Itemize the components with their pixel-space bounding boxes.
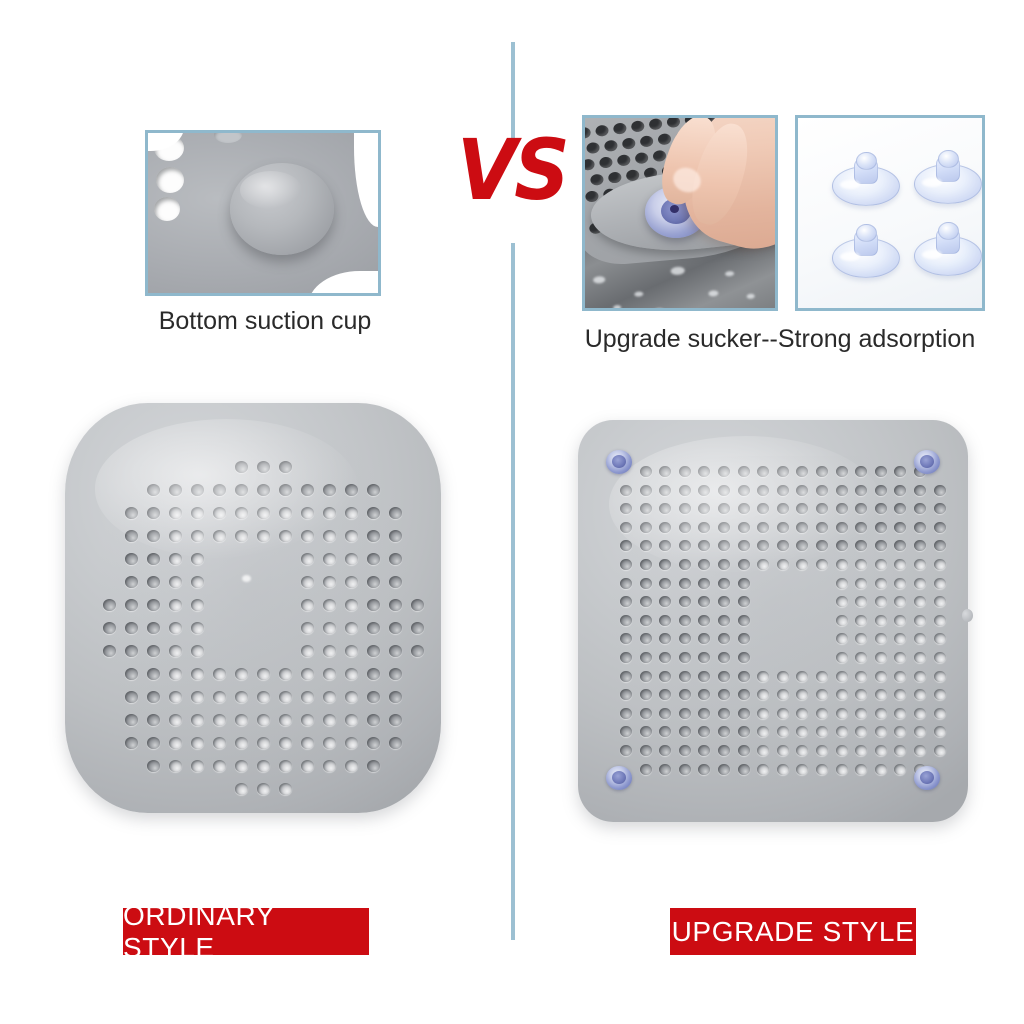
drain-hole — [698, 708, 710, 719]
drain-hole — [620, 578, 632, 589]
drain-hole — [367, 507, 380, 519]
drain-hole — [103, 622, 116, 634]
drain-hole — [914, 689, 926, 700]
drain-hole — [698, 671, 710, 682]
floor-speckle — [725, 271, 734, 277]
drain-hole — [698, 633, 710, 644]
drain-hole — [257, 668, 270, 680]
drain-hole — [777, 764, 789, 775]
drain-hole — [718, 764, 730, 775]
drain-hole — [934, 689, 946, 700]
drain-hole — [345, 599, 358, 611]
drain-hole — [934, 485, 946, 496]
bottom-suction-cup-image — [148, 133, 378, 293]
drain-hole — [659, 726, 671, 737]
drain-hole — [640, 671, 652, 682]
drain-hole — [718, 726, 730, 737]
drain-hole — [659, 745, 671, 756]
upgrade-drain-cover-product — [578, 420, 968, 822]
drain-hole — [213, 737, 226, 749]
drain-hole — [620, 652, 632, 663]
drain-hole — [389, 668, 402, 680]
drain-hole — [875, 578, 887, 589]
drain-hole — [125, 645, 138, 657]
drain-hole — [855, 745, 867, 756]
drain-hole — [914, 633, 926, 644]
drain-hole — [620, 596, 632, 607]
drain-hole — [620, 615, 632, 626]
drain-hole — [914, 522, 926, 533]
drain-hole — [757, 726, 769, 737]
mat-hole — [613, 122, 627, 135]
drain-hole — [323, 622, 336, 634]
drain-hole — [698, 689, 710, 700]
drain-hole — [934, 503, 946, 514]
drain-hole — [914, 503, 926, 514]
drain-hole — [103, 645, 116, 657]
drain-hole — [169, 622, 182, 634]
drain-hole — [934, 652, 946, 663]
four-suckers-image — [798, 118, 982, 308]
drain-hole — [367, 576, 380, 588]
drain-hole — [698, 578, 710, 589]
drain-hole — [855, 671, 867, 682]
drain-hole — [367, 691, 380, 703]
drain-hole — [836, 671, 848, 682]
drain-hole — [718, 615, 730, 626]
drain-hole — [191, 576, 204, 588]
drain-hole — [659, 689, 671, 700]
mat-hole — [666, 118, 680, 128]
drain-hole — [855, 615, 867, 626]
floor-speckle — [747, 294, 755, 300]
drain-hole — [257, 760, 270, 772]
drain-hole — [679, 596, 691, 607]
drain-hole — [894, 671, 906, 682]
drain-hole — [154, 197, 180, 221]
drain-hole — [718, 671, 730, 682]
drain-hole — [235, 760, 248, 772]
drain-hole — [640, 578, 652, 589]
drain-hole — [389, 714, 402, 726]
drain-hole — [411, 599, 424, 611]
drain-hole — [934, 745, 946, 756]
drain-hole — [640, 745, 652, 756]
drain-hole — [301, 737, 314, 749]
drain-hole — [894, 485, 906, 496]
drain-hole — [191, 737, 204, 749]
drain-hole — [757, 689, 769, 700]
drain-hole — [323, 714, 336, 726]
drain-hole — [894, 578, 906, 589]
drain-hole — [738, 671, 750, 682]
mat-hole — [622, 137, 636, 150]
drain-hole — [147, 553, 160, 565]
drain-hole — [301, 576, 314, 588]
drain-hole — [279, 737, 292, 749]
drain-hole — [125, 576, 138, 588]
drain-hole — [411, 622, 424, 634]
drain-hole — [169, 553, 182, 565]
mat-hole — [608, 171, 622, 184]
drain-hole — [389, 530, 402, 542]
drain-hole — [345, 530, 358, 542]
corner-sucker-core — [920, 455, 934, 468]
drain-hole — [213, 714, 226, 726]
drain-hole — [875, 596, 887, 607]
drain-hole — [718, 652, 730, 663]
drain-hole — [698, 726, 710, 737]
drain-hole — [345, 553, 358, 565]
drain-hole — [679, 745, 691, 756]
drain-hole — [914, 596, 926, 607]
drain-hole — [875, 633, 887, 644]
drain-hole — [836, 652, 848, 663]
drain-hole — [875, 559, 887, 570]
corner-sucker — [914, 450, 940, 474]
corner-sucker-core — [612, 771, 626, 784]
drain-hole — [894, 745, 906, 756]
drain-hole — [698, 764, 710, 775]
drain-hole — [257, 691, 270, 703]
drain-hole — [757, 671, 769, 682]
drain-hole — [620, 708, 632, 719]
drain-hole — [389, 507, 402, 519]
mat-hole — [648, 118, 662, 130]
suction-cup — [832, 224, 900, 278]
drain-hole — [914, 485, 926, 496]
drain-hole — [855, 726, 867, 737]
drain-hole — [679, 633, 691, 644]
drain-hole — [103, 599, 116, 611]
drain-hole — [679, 652, 691, 663]
drain-hole — [875, 764, 887, 775]
drain-hole — [855, 652, 867, 663]
suction-cup-knob — [938, 150, 959, 168]
bottom-suction-cup-thumbnail — [145, 130, 381, 296]
drain-hole — [213, 668, 226, 680]
mat-hole — [640, 135, 654, 148]
drain-hole — [620, 540, 632, 551]
drain-hole — [345, 576, 358, 588]
drain-hole — [235, 714, 248, 726]
drain-hole — [620, 671, 632, 682]
drain-hole — [323, 599, 336, 611]
drain-hole — [875, 708, 887, 719]
drain-hole — [894, 633, 906, 644]
drain-hole — [279, 783, 292, 795]
drain-hole — [620, 726, 632, 737]
drain-hole — [914, 652, 926, 663]
drain-hole — [894, 652, 906, 663]
drain-hole — [367, 668, 380, 680]
drain-hole — [147, 576, 160, 588]
drain-hole — [640, 708, 652, 719]
ordinary-style-banner: ORDINARY STYLE — [123, 908, 369, 955]
drain-hole — [816, 689, 828, 700]
drain-hole — [718, 708, 730, 719]
drain-hole — [147, 691, 160, 703]
drain-hole — [836, 764, 848, 775]
corner-sucker — [606, 766, 632, 790]
drain-hole — [191, 668, 204, 680]
suction-cup-knob — [856, 224, 877, 242]
drain-hole — [389, 737, 402, 749]
drain-hole — [894, 726, 906, 737]
upgrade-style-banner: UPGRADE STYLE — [670, 908, 916, 955]
drain-hole — [796, 671, 808, 682]
drain-hole — [679, 671, 691, 682]
drain-hole — [679, 764, 691, 775]
drain-hole — [855, 689, 867, 700]
drain-hole — [389, 622, 402, 634]
mat-hole — [585, 158, 595, 171]
drain-hole — [323, 737, 336, 749]
drain-hole — [620, 745, 632, 756]
four-suckers-thumbnail — [795, 115, 985, 311]
drain-hole — [757, 745, 769, 756]
drain-hole — [894, 764, 906, 775]
drain-hole — [875, 652, 887, 663]
mat-hole — [585, 127, 591, 140]
drain-hole — [934, 522, 946, 533]
drain-hole — [345, 737, 358, 749]
left-caption: Bottom suction cup — [60, 307, 470, 336]
drain-hole — [125, 714, 138, 726]
drain-hole — [169, 691, 182, 703]
drain-hole — [169, 645, 182, 657]
drain-hole — [125, 553, 138, 565]
drain-hole — [816, 671, 828, 682]
drain-hole — [738, 615, 750, 626]
drain-hole — [796, 689, 808, 700]
floor-speckle — [634, 291, 643, 297]
drain-hole — [345, 714, 358, 726]
drain-hole — [235, 783, 248, 795]
drain-hole — [367, 599, 380, 611]
mat-hole — [599, 156, 613, 169]
drain-hole — [777, 726, 789, 737]
drain-hole — [934, 615, 946, 626]
drain-hole — [191, 760, 204, 772]
drain-hole — [738, 596, 750, 607]
drain-hole — [894, 466, 906, 477]
drain-hole — [191, 622, 204, 634]
drain-hole — [301, 622, 314, 634]
drain-hole — [934, 671, 946, 682]
suction-cup-highlight — [840, 180, 860, 189]
drain-hole — [389, 645, 402, 657]
drain-hole — [156, 167, 184, 193]
drain-hole — [389, 576, 402, 588]
drain-hole — [235, 691, 248, 703]
suction-cup-highlight — [922, 250, 942, 259]
drain-hole — [914, 671, 926, 682]
drain-hole — [914, 615, 926, 626]
dome-highlight — [240, 171, 302, 209]
drain-hole — [698, 596, 710, 607]
drain-hole — [914, 578, 926, 589]
drain-hole — [345, 645, 358, 657]
drain-hole — [914, 540, 926, 551]
drain-hole — [367, 760, 380, 772]
drain-hole — [894, 615, 906, 626]
corner-sucker — [606, 450, 632, 474]
drain-hole — [367, 484, 380, 496]
drain-hole — [679, 615, 691, 626]
drain-hole — [757, 764, 769, 775]
drain-hole — [698, 652, 710, 663]
drain-hole — [279, 714, 292, 726]
drain-hole — [934, 559, 946, 570]
suction-cup-knob — [856, 152, 877, 170]
drain-hole — [777, 708, 789, 719]
drain-hole — [914, 559, 926, 570]
drain-hole — [323, 691, 336, 703]
drain-hole — [389, 599, 402, 611]
drain-hole — [934, 708, 946, 719]
drain-hole — [698, 615, 710, 626]
drain-hole — [367, 553, 380, 565]
vs-badge: VS — [457, 128, 567, 212]
drain-hole — [191, 691, 204, 703]
drain-hole — [836, 689, 848, 700]
drain-hole — [279, 760, 292, 772]
drain-hole — [640, 633, 652, 644]
drain-hole — [796, 745, 808, 756]
drain-hole — [659, 633, 671, 644]
drain-hole — [323, 553, 336, 565]
drain-hole — [620, 559, 632, 570]
comparison-infographic: VS Bottom suction cup — [0, 0, 1024, 1024]
drain-hole — [169, 668, 182, 680]
drain-hole — [738, 633, 750, 644]
drain-hole — [718, 745, 730, 756]
drain-hole — [836, 615, 848, 626]
suction-cup-knob — [938, 222, 959, 240]
corner-sucker-core — [920, 771, 934, 784]
suction-cup — [832, 152, 900, 206]
drain-hole — [934, 578, 946, 589]
vertical-divider-bottom — [511, 243, 515, 940]
drain-hole — [836, 578, 848, 589]
drain-hole — [301, 645, 314, 657]
drain-hole — [679, 578, 691, 589]
drain-hole — [147, 645, 160, 657]
drain-hole — [934, 633, 946, 644]
drain-hole — [875, 671, 887, 682]
drain-hole — [367, 530, 380, 542]
drain-hole — [855, 596, 867, 607]
drain-hole — [620, 689, 632, 700]
drain-hole — [738, 764, 750, 775]
drain-hole — [816, 726, 828, 737]
suction-cup-highlight — [840, 252, 860, 261]
drain-hole — [738, 726, 750, 737]
mat-hole — [657, 133, 671, 146]
drain-hole — [323, 576, 336, 588]
drain-hole — [640, 689, 652, 700]
drain-hole — [875, 689, 887, 700]
drain-hole — [738, 708, 750, 719]
drain-hole — [257, 737, 270, 749]
drain-hole — [659, 652, 671, 663]
suction-cup — [914, 150, 982, 204]
drain-hole — [816, 764, 828, 775]
drain-hole — [367, 737, 380, 749]
drain-hole — [836, 596, 848, 607]
mat-hole — [631, 120, 645, 133]
suction-cup — [914, 222, 982, 276]
white-backdrop — [798, 118, 982, 308]
drain-hole — [367, 714, 380, 726]
drain-hole — [169, 760, 182, 772]
drain-hole — [659, 596, 671, 607]
drain-hole — [796, 726, 808, 737]
drain-hole — [914, 745, 926, 756]
drain-hole — [279, 691, 292, 703]
drain-hole — [125, 668, 138, 680]
drain-hole — [738, 578, 750, 589]
drain-hole — [934, 726, 946, 737]
hand-peeling-sucker-thumbnail — [582, 115, 778, 311]
side-nub — [962, 609, 973, 622]
drain-hole — [345, 622, 358, 634]
drain-hole — [125, 622, 138, 634]
drain-hole — [411, 645, 424, 657]
drain-hole — [934, 596, 946, 607]
drain-hole — [213, 691, 226, 703]
drain-hole — [301, 553, 314, 565]
drain-hole — [738, 652, 750, 663]
mat-hole — [595, 124, 609, 137]
drain-hole — [640, 726, 652, 737]
drain-hole — [659, 615, 671, 626]
drain-hole — [777, 671, 789, 682]
drain-hole — [213, 760, 226, 772]
drain-hole — [875, 540, 887, 551]
floor-speckle — [613, 305, 621, 308]
drain-hole — [147, 599, 160, 611]
drain-hole — [640, 559, 652, 570]
drain-hole — [191, 599, 204, 611]
drain-hole — [914, 708, 926, 719]
drain-hole — [855, 764, 867, 775]
mat-hole — [635, 152, 649, 165]
drain-hole — [894, 540, 906, 551]
drain-hole — [257, 783, 270, 795]
drain-hole — [345, 760, 358, 772]
drain-hole — [640, 596, 652, 607]
drain-hole — [301, 760, 314, 772]
mat-hole — [586, 142, 600, 155]
drain-hole — [323, 760, 336, 772]
drain-hole — [738, 745, 750, 756]
ordinary-drain-cover-product — [65, 403, 441, 813]
drain-hole — [125, 599, 138, 611]
drain-hole — [875, 726, 887, 737]
drain-hole — [169, 599, 182, 611]
drain-hole — [894, 522, 906, 533]
drain-hole — [640, 764, 652, 775]
dome-suction-cup — [230, 163, 334, 255]
drain-hole — [257, 714, 270, 726]
drain-hole — [875, 745, 887, 756]
drain-hole — [301, 599, 314, 611]
drain-hole — [345, 668, 358, 680]
center-mark — [242, 575, 251, 582]
mat-hole — [617, 154, 631, 167]
